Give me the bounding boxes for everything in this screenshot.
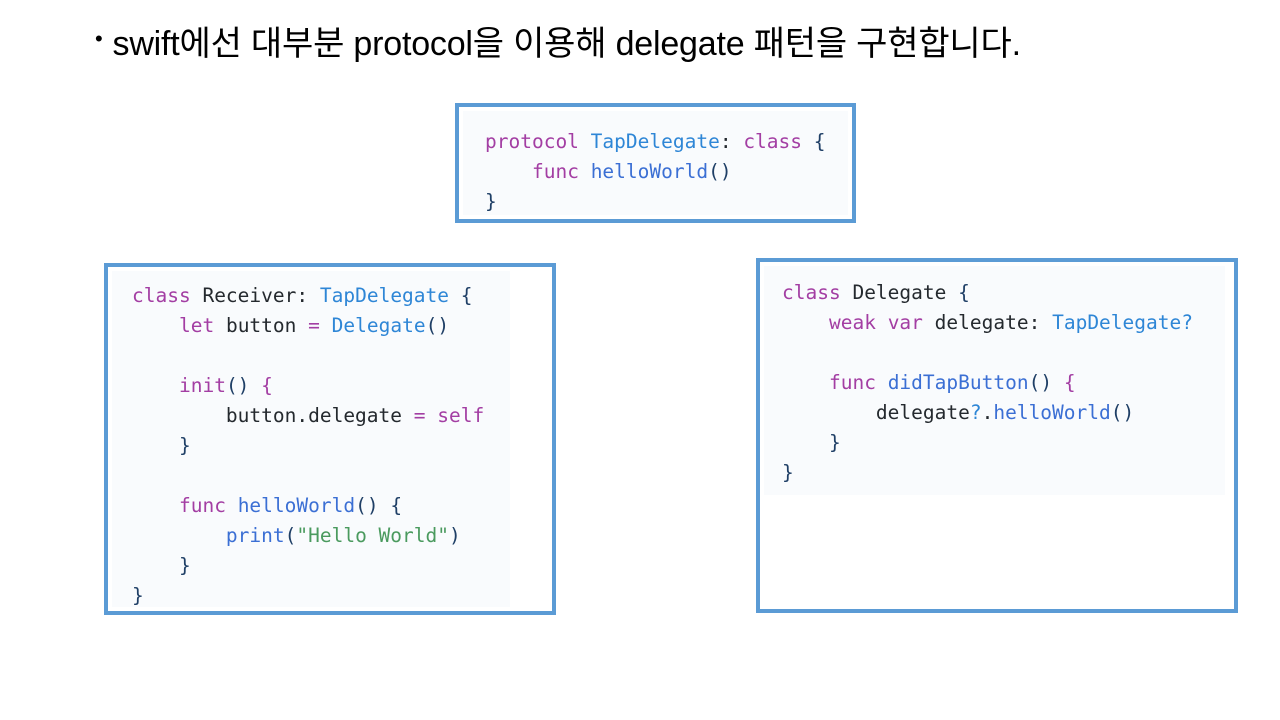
code-block-delegate-text: class Delegate { weak var delegate: TapD…	[764, 266, 1225, 488]
code-block-protocol: protocol TapDelegate: class { func hello…	[455, 103, 856, 223]
code-block-receiver-text: class Receiver: TapDelegate { let button…	[112, 271, 510, 607]
code-block-receiver: class Receiver: TapDelegate { let button…	[104, 263, 556, 615]
code-block-delegate: class Delegate { weak var delegate: TapD…	[756, 258, 1238, 613]
slide-heading: • swift에선 대부분 protocol을 이용해 delegate 패턴을…	[95, 16, 1235, 64]
code-block-delegate-background: class Delegate { weak var delegate: TapD…	[764, 266, 1225, 495]
slide-heading-text: swift에선 대부분 protocol을 이용해 delegate 패턴을 구…	[113, 16, 1021, 65]
code-block-protocol-background: protocol TapDelegate: class { func hello…	[463, 111, 848, 215]
code-block-receiver-background: class Receiver: TapDelegate { let button…	[112, 271, 510, 607]
code-block-protocol-text: protocol TapDelegate: class { func hello…	[463, 111, 848, 215]
bullet-marker-icon: •	[95, 28, 103, 50]
